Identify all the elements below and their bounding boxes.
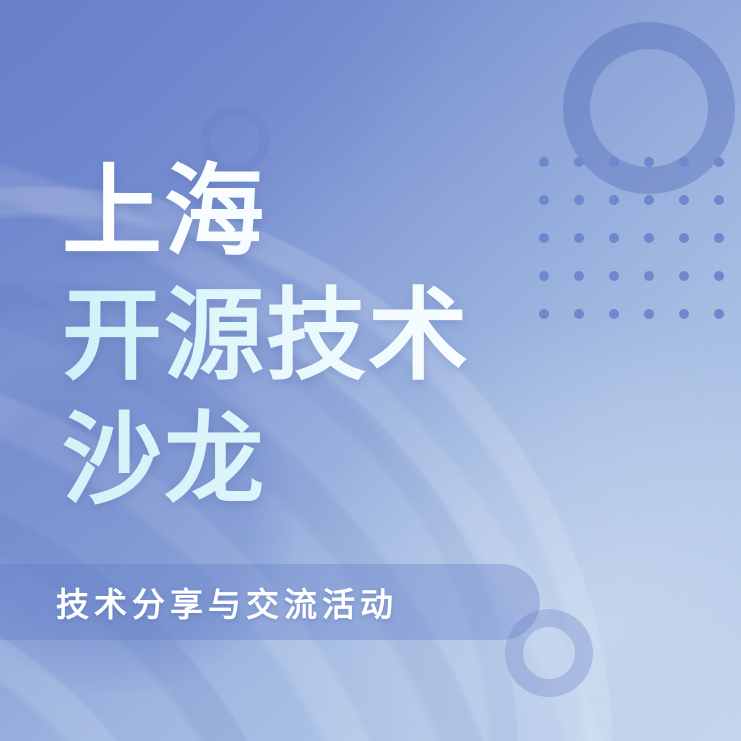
ring-icon-bottom	[505, 609, 593, 697]
dot	[714, 233, 724, 243]
dot	[714, 309, 724, 319]
poster-subtitle: 技术分享与交流活动	[56, 578, 398, 626]
poster-title: 上海 开源技术 沙龙	[62, 150, 682, 522]
dot	[714, 271, 724, 281]
dot	[714, 195, 724, 205]
dot	[714, 157, 724, 167]
title-line-2: 开源技术	[62, 274, 682, 398]
title-line-1: 上海	[62, 150, 682, 274]
poster-canvas: 上海 开源技术 沙龙 技术分享与交流活动	[0, 0, 741, 741]
title-line-3: 沙龙	[62, 398, 682, 522]
